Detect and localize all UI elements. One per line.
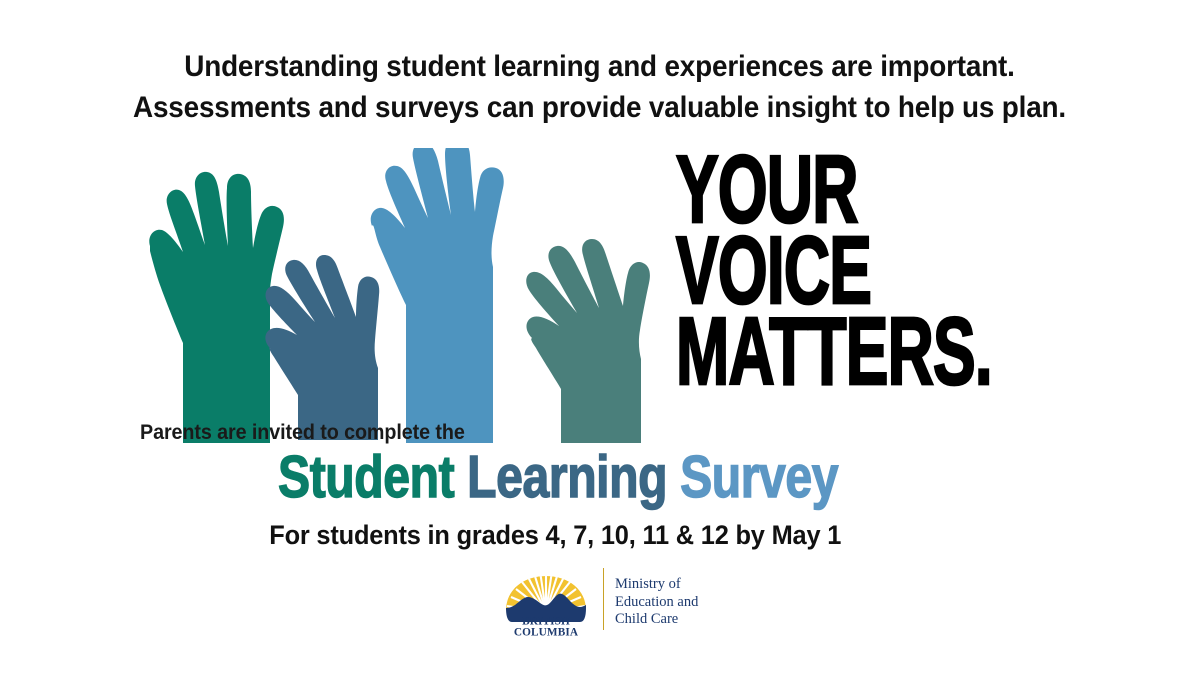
ministry-line-2: Education and: [615, 594, 698, 612]
slogan-block: YOUR VOICE MATTERS.: [676, 143, 1096, 386]
svg-text:COLUMBIA: COLUMBIA: [514, 627, 579, 639]
ministry-line-3: Child Care: [615, 611, 698, 629]
hand-teal-icon: [526, 239, 650, 443]
survey-title-space-1: [454, 443, 467, 510]
ministry-name: Ministry of Education and Child Care: [615, 566, 698, 629]
grades-line: For students in grades 4, 7, 10, 11 & 12…: [0, 520, 1111, 551]
hand-green-icon: [149, 172, 284, 443]
headline-block: Understanding student learning and exper…: [0, 46, 1199, 128]
slogan-line-matters: MATTERS.: [676, 305, 1004, 399]
grades-line-text: For students in grades 4, 7, 10, 11 & 12…: [270, 520, 842, 551]
bc-government-logo: BRITISH COLUMBIA Ministry of Education a…: [498, 566, 703, 638]
headline-line-1: Understanding student learning and exper…: [42, 46, 1157, 87]
ministry-line-1: Ministry of: [615, 576, 698, 594]
invite-line: Parents are invited to complete the: [140, 421, 465, 445]
headline-line-2: Assessments and surveys can provide valu…: [42, 87, 1157, 128]
survey-title-word-student: Student: [278, 443, 454, 510]
survey-title-word-survey: Survey: [680, 443, 838, 510]
bc-sun-mountain-icon: BRITISH COLUMBIA: [498, 566, 594, 638]
hand-light-blue-icon: [371, 148, 504, 443]
logo-divider: [603, 568, 604, 630]
survey-title: Student Learning Survey: [278, 445, 838, 509]
poster-canvas: Understanding student learning and exper…: [0, 0, 1199, 674]
raised-hands-illustration: [120, 148, 700, 443]
survey-title-word-learning: Learning: [467, 443, 667, 510]
hand-slate-blue-icon: [265, 255, 379, 440]
survey-title-space-2: [667, 443, 680, 510]
